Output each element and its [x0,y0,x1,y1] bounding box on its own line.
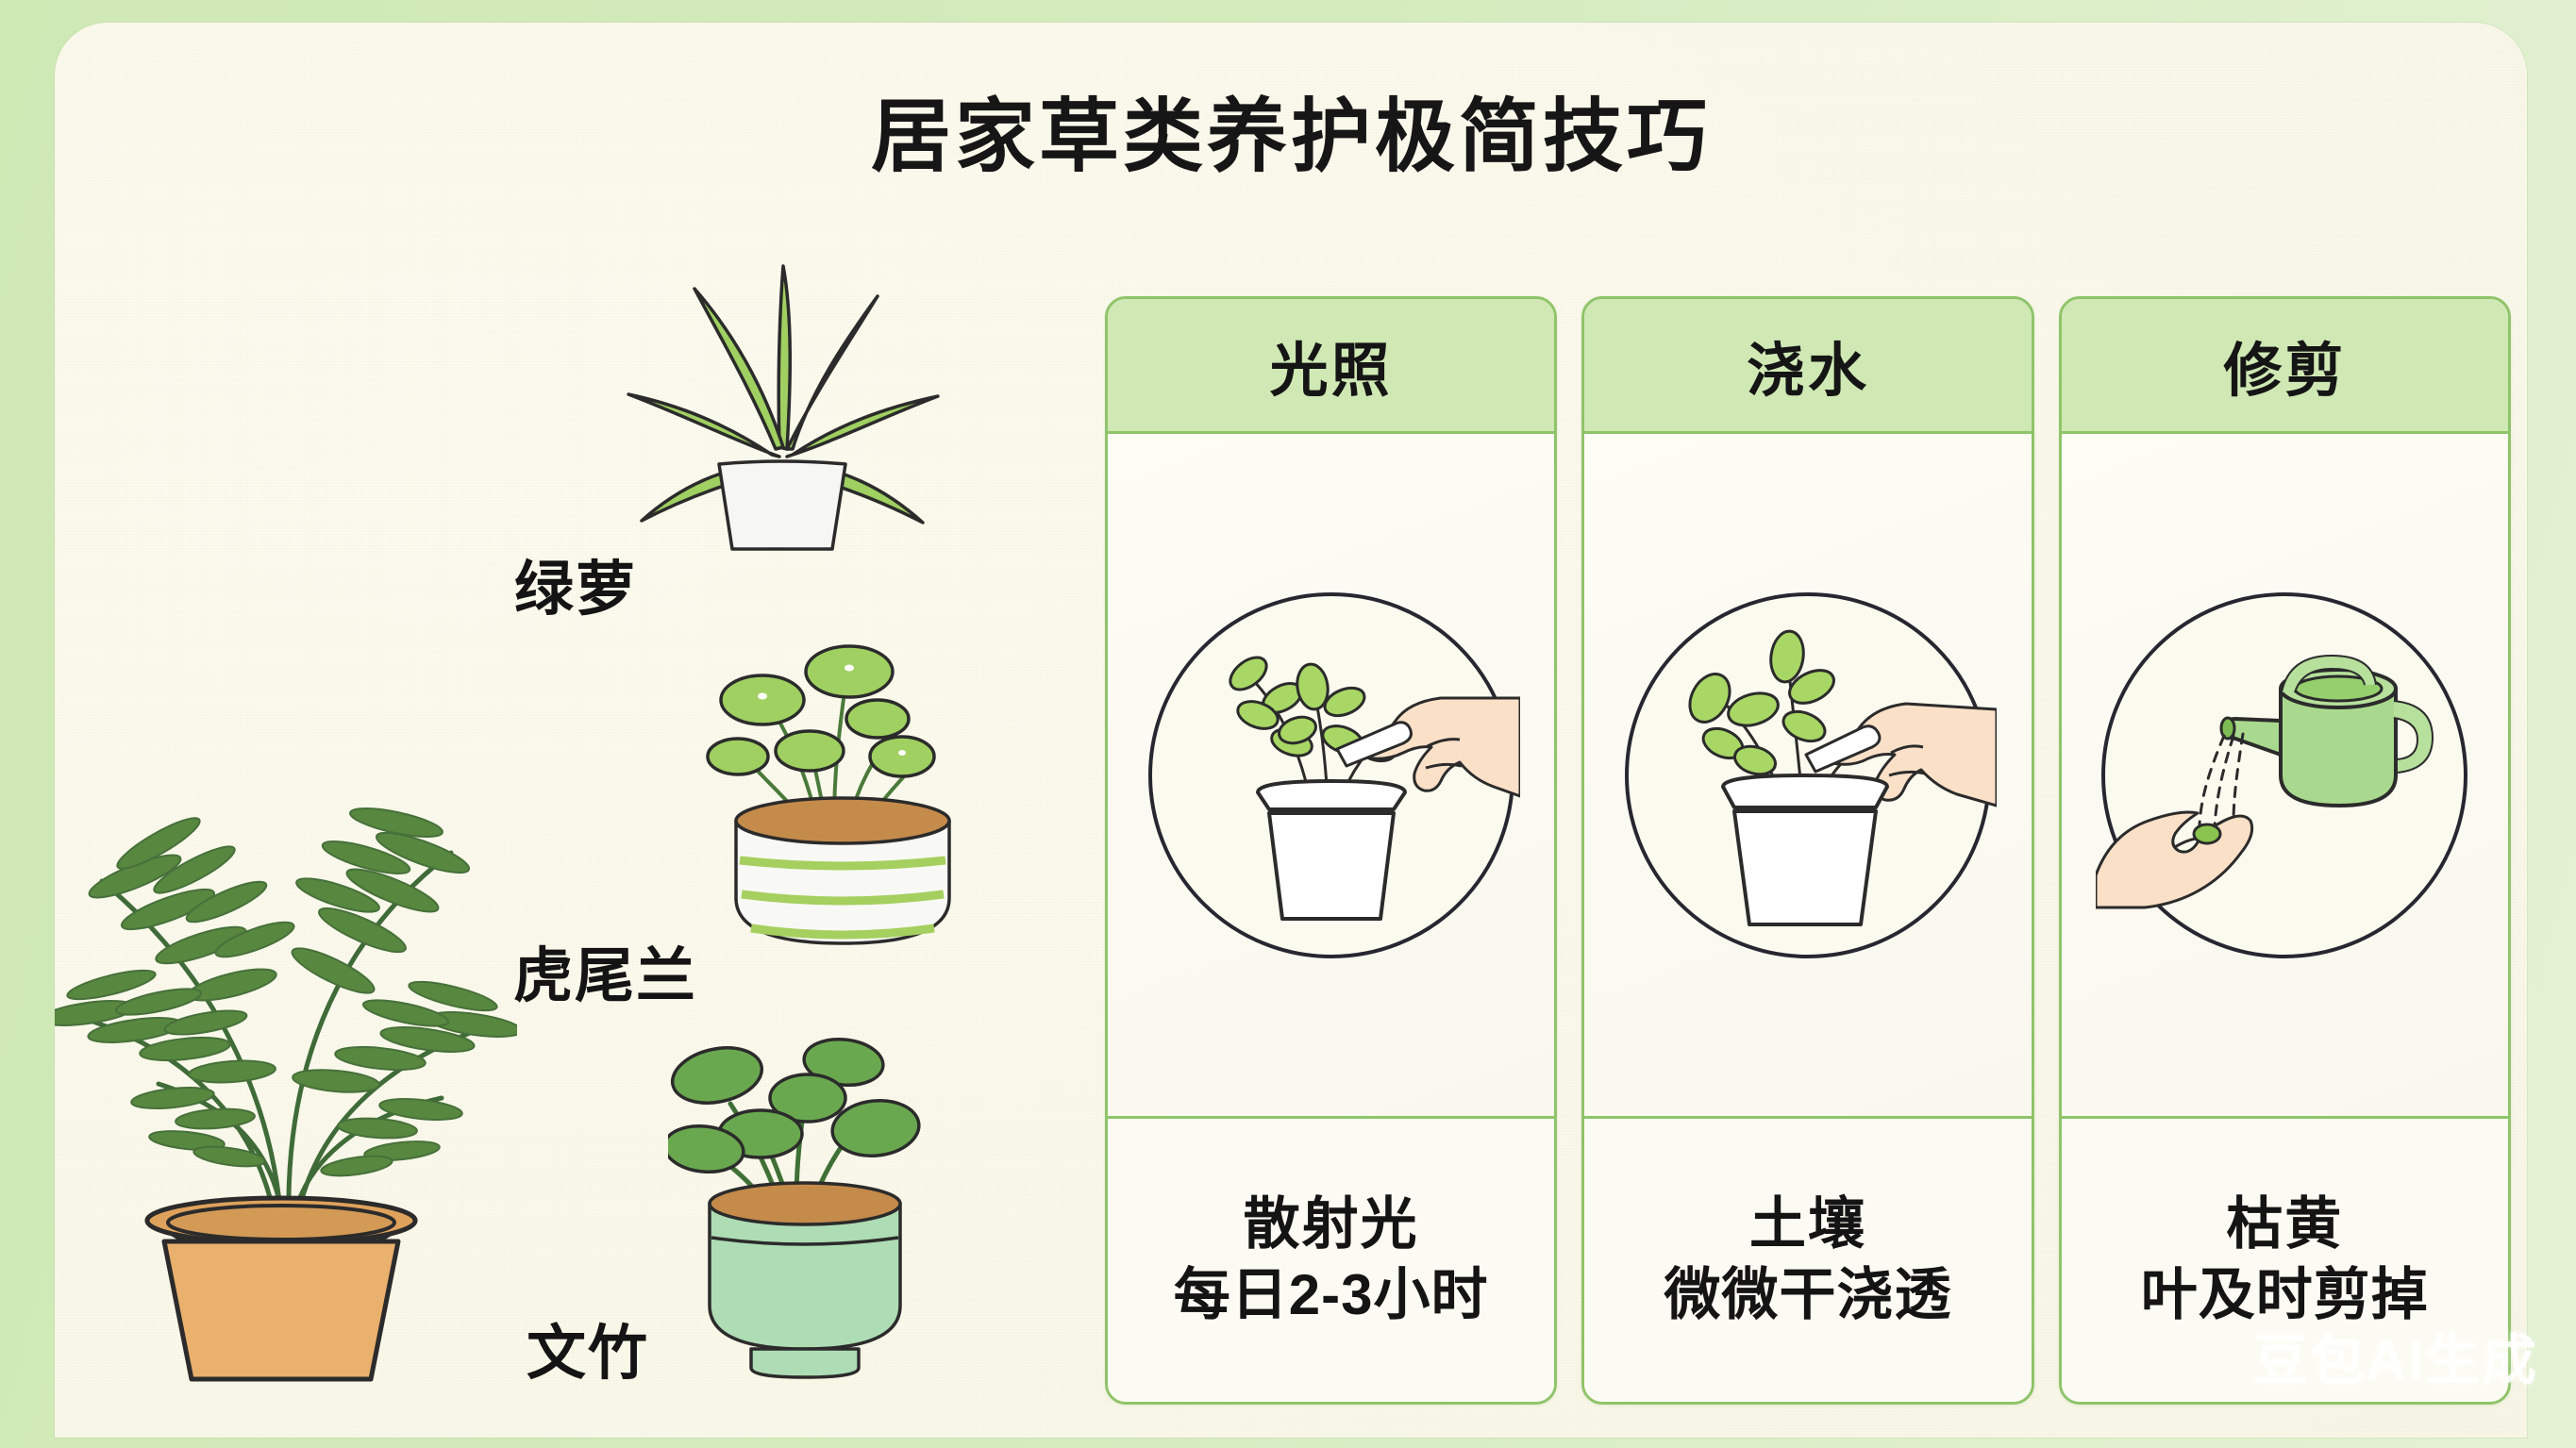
potted-plant-with-hand-tool-icon [1143,587,1520,964]
card-illustration-light [1108,434,1554,1116]
card-footer-line2-light: 每日2-3小时 [1174,1262,1489,1329]
card-footer-line1-light: 散射光 [1244,1191,1419,1258]
care-card-water[interactable]: 浇水 [1581,296,2033,1405]
plant-label-1: 绿萝 [514,541,637,627]
spider-plant-illustration [621,230,942,551]
potted-plant-with-hand-tool-icon [1619,587,1997,964]
pilea-striped-pot-illustration [706,636,979,947]
card-footer-line1-prune: 枯黄 [2226,1191,2343,1258]
plant-gallery: 绿萝 虎尾兰 文竹 [55,136,1027,1438]
card-footer-water: 土壤 微微干浇透 [1584,1116,2031,1402]
care-cards: 光照 [1105,296,2511,1405]
card-footer-prune: 枯黄 叶及时剪掉 [2062,1116,2508,1402]
card-illustration-prune [2062,434,2508,1116]
card-header-light: 光照 [1108,299,1554,434]
card-footer-line2-prune: 叶及时剪掉 [2141,1262,2429,1329]
poster-canvas: 居家草类养护极简技巧 [0,0,2576,1448]
card-header-prune: 修剪 [2062,299,2508,434]
card-footer-light: 散射光 每日2-3小时 [1108,1116,1554,1402]
care-card-light[interactable]: 光照 [1105,296,1557,1405]
card-footer-line1-water: 土壤 [1749,1191,1866,1258]
watering-can-with-hand-icon [2096,587,2473,964]
card-header-water: 浇水 [1584,299,2031,434]
potted-palm-illustration [55,570,517,1390]
plant-label-2: 虎尾兰 [513,928,697,1014]
care-card-prune[interactable]: 修剪 [2059,296,2511,1405]
page-title: 居家草类养护极简技巧 [55,72,2527,188]
paper-panel: 居家草类养护极简技巧 [55,23,2527,1438]
card-footer-line2-water: 微微干浇透 [1664,1262,1951,1329]
card-illustration-water [1584,434,2031,1116]
pilea-mint-pot-illustration [668,1023,942,1381]
plant-label-3: 文竹 [527,1306,649,1391]
